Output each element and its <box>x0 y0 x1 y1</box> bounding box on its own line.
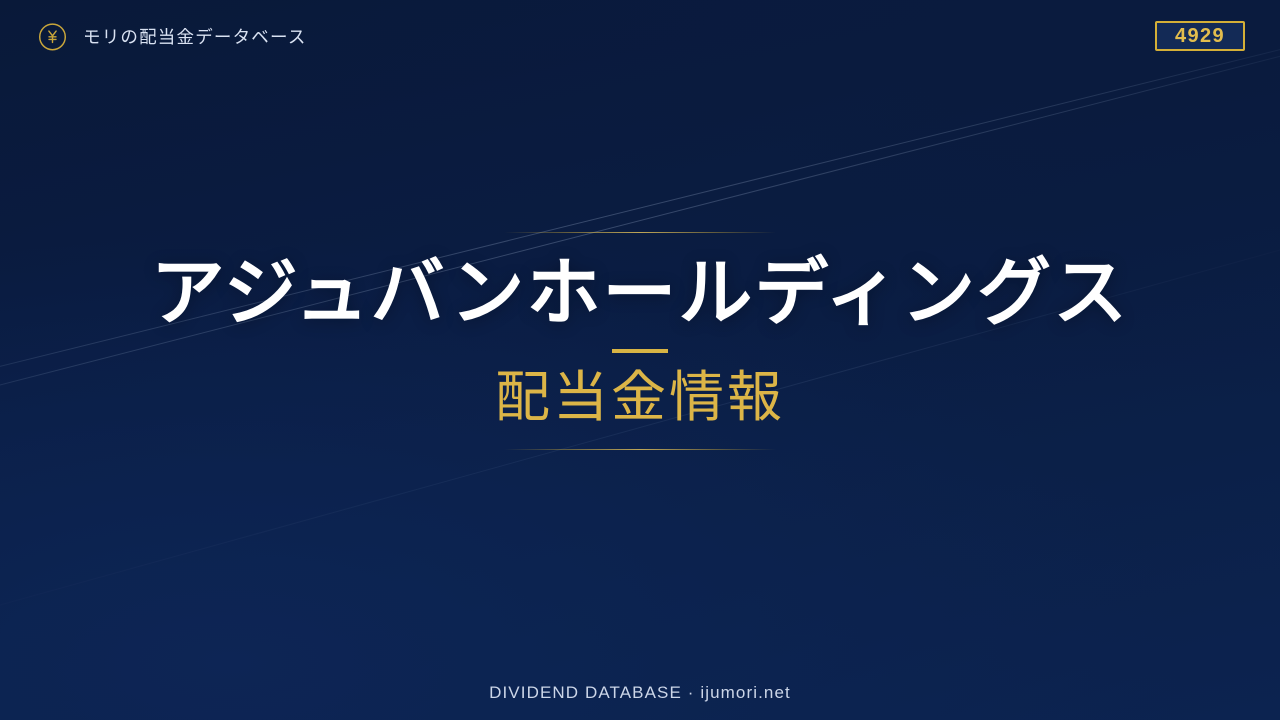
footer-attribution: DIVIDEND DATABASE · ijumori.net <box>489 683 791 702</box>
page-footer: DIVIDEND DATABASE · ijumori.net <box>0 683 1280 703</box>
title-card-stage: モリの配当金データベース 4929 アジュバンホールディングス 配当金情報 DI… <box>0 0 1280 720</box>
yen-circle-icon <box>36 20 69 53</box>
company-name-title: アジュバンホールディングス <box>151 255 1129 335</box>
page-subtitle: 配当金情報 <box>495 367 785 429</box>
title-block: アジュバンホールディングス 配当金情報 <box>0 232 1280 450</box>
gold-divider-bar <box>612 349 668 353</box>
rule-above-title <box>504 232 776 233</box>
ticker-code-badge: 4929 <box>1155 21 1245 51</box>
brand-name: モリの配当金データベース <box>83 24 307 49</box>
page-header: モリの配当金データベース 4929 <box>0 0 1280 72</box>
brand[interactable]: モリの配当金データベース <box>36 20 307 53</box>
rule-below-subtitle <box>504 449 776 450</box>
